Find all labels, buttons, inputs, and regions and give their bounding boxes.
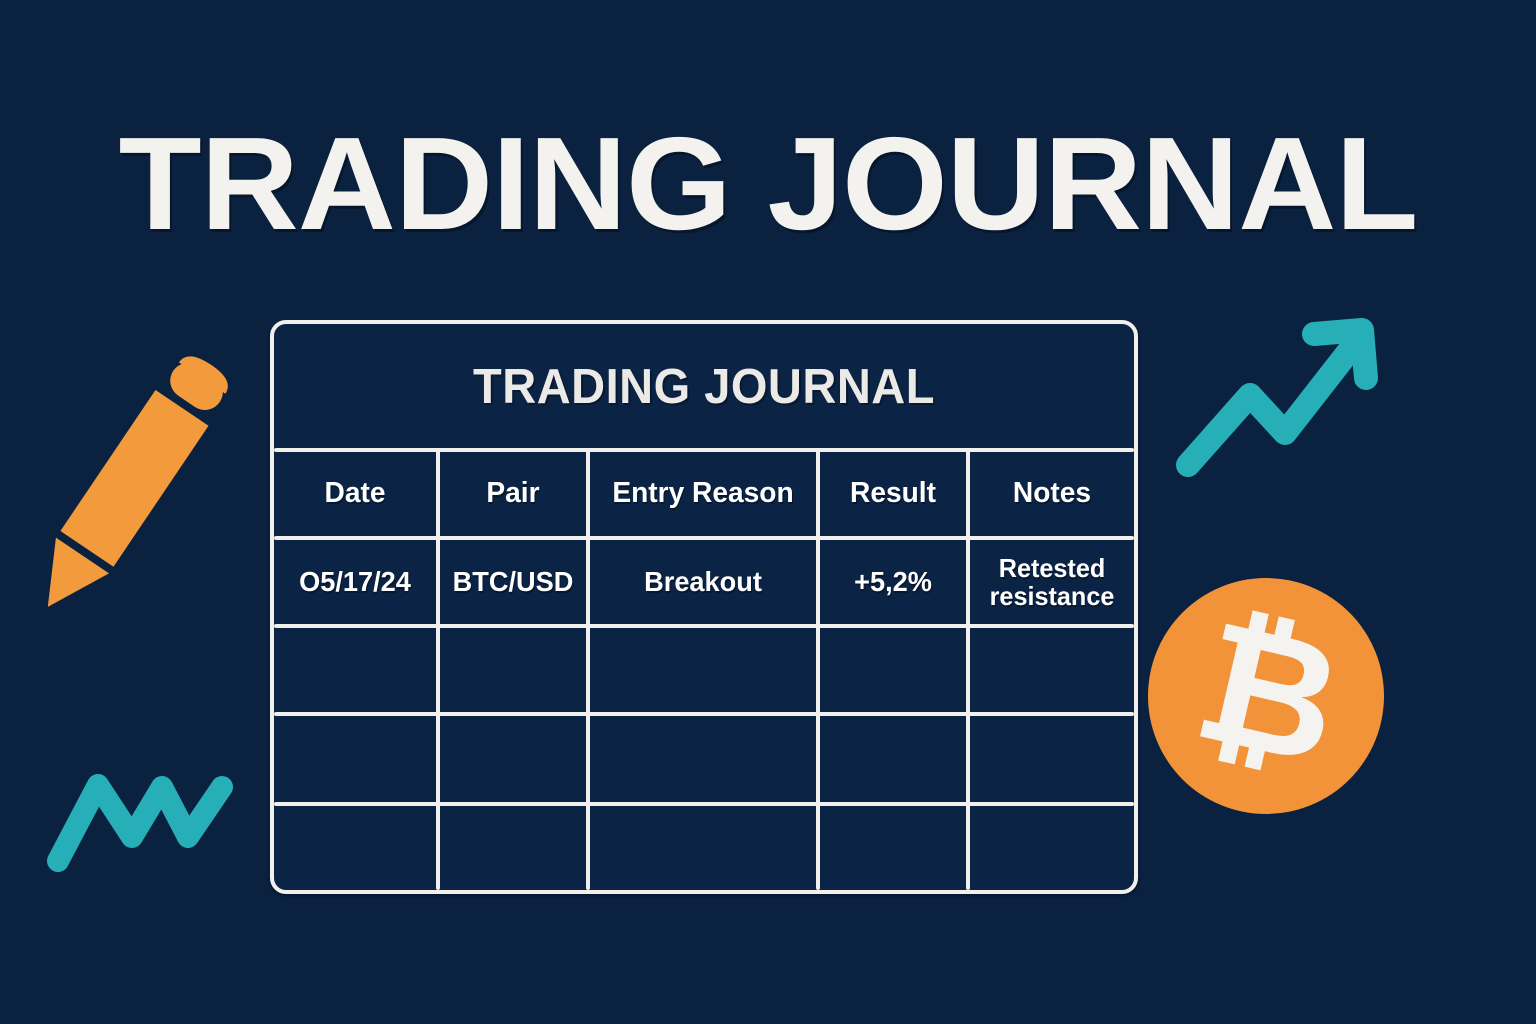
cell-date[interactable]: O5/17/24 xyxy=(276,540,433,624)
bitcoin-icon: ₿ xyxy=(1148,578,1384,814)
bitcoin-symbol: ₿ xyxy=(1127,551,1410,834)
empty-cell[interactable] xyxy=(972,716,1131,802)
cell-pair[interactable]: BTC/USD xyxy=(442,540,584,624)
empty-cell[interactable] xyxy=(822,628,964,712)
empty-cell[interactable] xyxy=(593,806,812,890)
grid-line-col2 xyxy=(586,448,590,890)
poster-canvas: TRADING JOURNAL TRADING JOURNAL Date Pai… xyxy=(0,0,1536,1024)
cell-entry-reason[interactable]: Breakout xyxy=(593,540,812,624)
column-header-date: Date xyxy=(276,452,433,536)
empty-cell[interactable] xyxy=(822,806,964,890)
empty-cell[interactable] xyxy=(972,628,1131,712)
grid-line-col4 xyxy=(966,448,970,890)
table-caption: TRADING JOURNAL xyxy=(291,324,1117,450)
column-header-pair: Pair xyxy=(442,452,584,536)
column-header-notes: Notes xyxy=(972,452,1131,536)
grid-line-col3 xyxy=(816,448,820,890)
empty-cell[interactable] xyxy=(972,806,1131,890)
trending-up-arrow-icon xyxy=(1170,300,1390,490)
column-header-result: Result xyxy=(822,452,964,536)
empty-cell[interactable] xyxy=(276,806,433,890)
zigzag-line-icon xyxy=(40,755,240,880)
empty-cell[interactable] xyxy=(442,628,584,712)
empty-cell[interactable] xyxy=(593,716,812,802)
trading-journal-table: TRADING JOURNAL Date Pair Entry Reason R… xyxy=(270,320,1138,894)
empty-cell[interactable] xyxy=(442,806,584,890)
pencil-icon xyxy=(30,340,230,630)
empty-cell[interactable] xyxy=(276,628,433,712)
page-title: TRADING JOURNAL xyxy=(0,118,1536,250)
empty-cell[interactable] xyxy=(593,628,812,712)
cell-notes[interactable]: Retested resistance xyxy=(972,540,1131,624)
empty-cell[interactable] xyxy=(822,716,964,802)
empty-cell[interactable] xyxy=(442,716,584,802)
empty-cell[interactable] xyxy=(276,716,433,802)
column-header-entry-reason: Entry Reason xyxy=(593,452,812,536)
grid-line-col1 xyxy=(436,448,440,890)
cell-result[interactable]: +5,2% xyxy=(822,540,964,624)
